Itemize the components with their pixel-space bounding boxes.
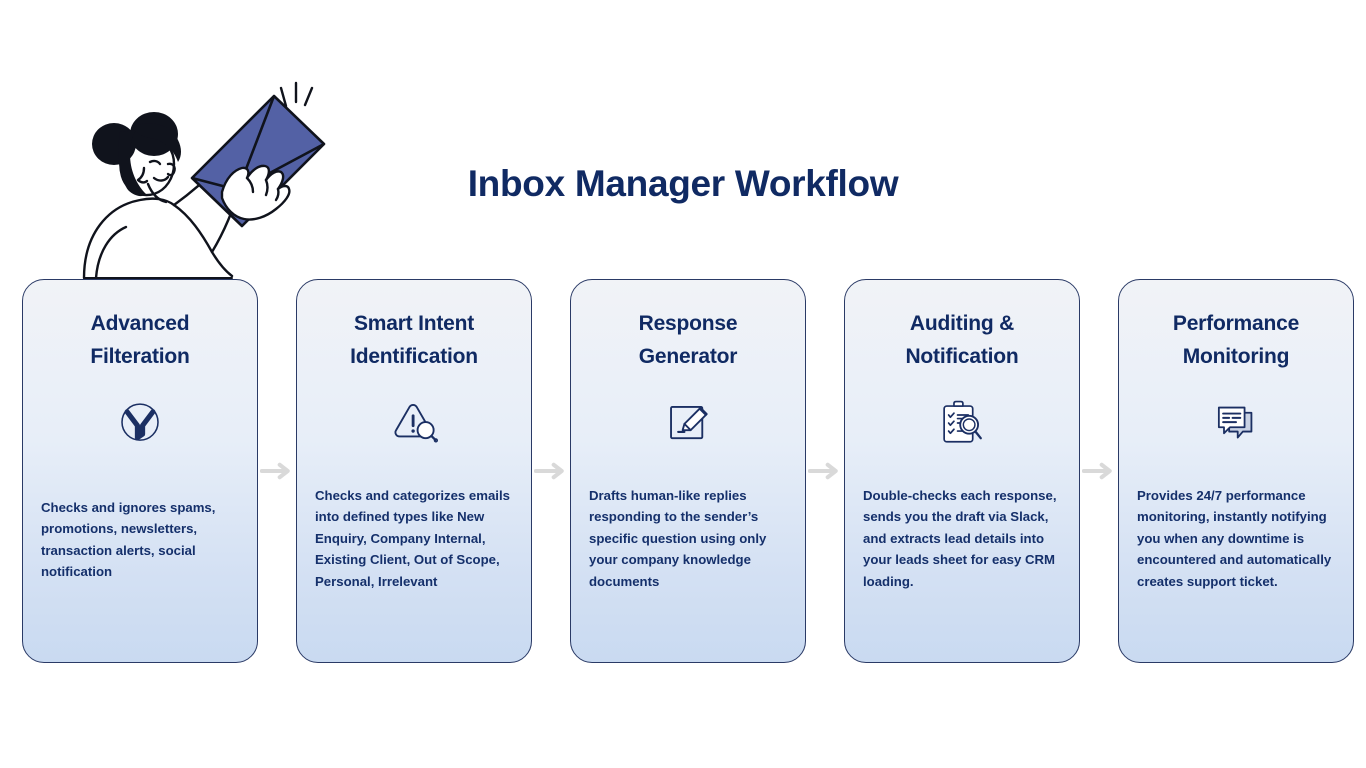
card-description: Double-checks each response, sends you t… xyxy=(863,485,1061,592)
card-description: Checks and ignores spams, promotions, ne… xyxy=(41,497,239,583)
body-right-outline xyxy=(174,205,232,276)
card-title-line2: Filteration xyxy=(90,345,189,368)
arrow-1 xyxy=(258,279,296,663)
note-pencil-icon xyxy=(660,395,716,451)
card-title: Smart Intent Identification xyxy=(350,308,478,373)
right-arrow-icon xyxy=(1082,461,1116,481)
clipboard-checklist-magnifier-icon-svg xyxy=(937,398,987,448)
card-title-line2: Notification xyxy=(905,345,1018,368)
chat-bubbles-icon xyxy=(1208,395,1264,451)
card-title-line2: Monitoring xyxy=(1183,345,1289,368)
card-title-line2: Generator xyxy=(639,345,738,368)
arrow-4 xyxy=(1080,279,1118,663)
card-title: Response Generator xyxy=(639,308,738,373)
card-auditing-notification[interactable]: Auditing & Notification xyxy=(844,279,1080,663)
arrow-3 xyxy=(806,279,844,663)
warning-triangle-magnifier-icon xyxy=(386,395,442,451)
card-performance-monitoring[interactable]: Performance Monitoring Provides 24/7 per… xyxy=(1118,279,1354,663)
card-response-generator[interactable]: Response Generator Drafts human-like rep… xyxy=(570,279,806,663)
motion-line-3 xyxy=(305,88,312,105)
note-pencil-icon-svg xyxy=(663,398,713,448)
right-arrow-icon xyxy=(534,461,568,481)
warning-triangle-magnifier-icon-svg xyxy=(388,398,440,448)
arrow-2 xyxy=(532,279,570,663)
sleeve-fold xyxy=(96,227,126,278)
card-title-line1: Advanced xyxy=(91,312,190,335)
card-smart-intent-identification[interactable]: Smart Intent Identification Checks and c… xyxy=(296,279,532,663)
right-arrow-icon xyxy=(808,461,842,481)
card-advanced-filteration[interactable]: Advanced Filteration Checks and ignores … xyxy=(22,279,258,663)
card-title-line2: Identification xyxy=(350,345,478,368)
right-arrow-icon xyxy=(260,461,294,481)
card-title: Auditing & Notification xyxy=(905,308,1018,373)
chat-bubbles-icon-svg xyxy=(1211,399,1261,447)
workflow-infographic: Inbox Manager Workflow Advanced Filterat… xyxy=(0,0,1366,768)
workflow-steps-row: Advanced Filteration Checks and ignores … xyxy=(22,279,1348,663)
funnel-filter-circle-icon xyxy=(112,395,168,451)
page-title: Inbox Manager Workflow xyxy=(0,163,1366,205)
funnel-filter-circle-icon-svg xyxy=(116,399,164,447)
card-description: Provides 24/7 performance monitoring, in… xyxy=(1137,485,1335,592)
clipboard-checklist-magnifier-icon xyxy=(934,395,990,451)
card-title: Performance Monitoring xyxy=(1173,308,1299,373)
card-title: Advanced Filteration xyxy=(90,308,189,373)
card-title-line1: Performance xyxy=(1173,312,1299,335)
card-description: Drafts human-like replies responding to … xyxy=(589,485,787,592)
card-title-line1: Auditing & xyxy=(910,312,1014,335)
card-description: Checks and categorizes emails into defin… xyxy=(315,485,513,592)
card-title-line1: Smart Intent xyxy=(354,312,474,335)
card-title-line1: Response xyxy=(639,312,738,335)
